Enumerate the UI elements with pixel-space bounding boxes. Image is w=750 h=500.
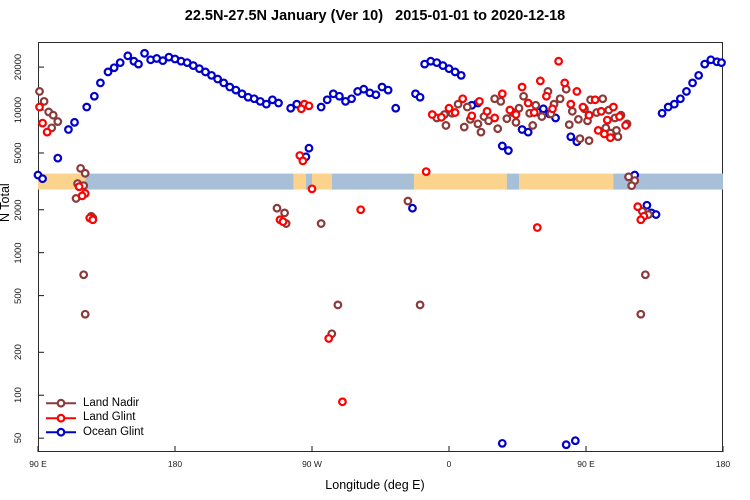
data-point [599,95,606,102]
data-point [125,53,132,60]
data-point [638,216,645,223]
axis-ticks [38,67,723,452]
data-point [141,50,148,57]
data-point [275,100,282,107]
data-point [586,137,593,144]
data-point [306,145,313,152]
data-point [525,129,532,136]
data-point [671,101,678,108]
data-point [44,129,51,136]
data-point [499,440,506,447]
data-point [39,120,46,127]
data-point [677,95,684,102]
y-tick-label: 10000 [12,95,26,125]
data-point [610,104,617,111]
data-point [534,224,541,231]
data-point [39,175,46,182]
series-ocean-glint [35,50,725,448]
data-point [54,155,61,162]
data-point [443,122,450,129]
y-tick-label: 20000 [12,52,26,82]
data-point [438,114,445,121]
data-point [555,58,562,65]
data-point [520,93,527,100]
data-point [298,106,305,113]
data-point [325,335,332,342]
data-point [54,118,61,125]
data-point [525,100,532,107]
data-point [452,109,459,116]
legend-label: Ocean Glint [83,425,144,440]
data-point [569,108,576,115]
data-point [280,218,287,225]
data-point [683,88,690,95]
y-tick-label: 200 [12,337,26,367]
data-point [135,61,142,68]
data-point [36,88,43,95]
data-point [91,93,98,100]
data-point [549,106,556,113]
data-point [531,109,538,116]
data-point [318,220,325,227]
surface-segment-land [294,174,306,190]
data-point [638,311,645,318]
data-point [409,205,416,212]
data-point [499,90,506,97]
data-point [309,186,316,193]
data-point [417,302,424,309]
legend-marker-icon [45,411,77,426]
data-point [653,211,660,218]
chart-title: 22.5N-27.5N January (Ver 10) 2015-01-01 … [0,8,750,24]
data-point [537,78,544,85]
data-point [577,135,584,142]
legend-marker-icon [45,396,77,411]
data-point [598,108,605,115]
surface-segment-land [519,174,613,190]
data-point [580,104,587,111]
data-point [50,112,57,119]
data-point [513,119,520,126]
data-point [634,203,641,210]
data-point [475,121,482,128]
data-point [111,64,118,71]
x-axis-label: Longitude (deg E) [0,478,750,492]
data-point [429,111,436,118]
y-tick-label: 100 [12,380,26,410]
data-point [417,94,424,101]
data-point [339,398,346,405]
x-tick-label: 0 [429,459,469,469]
data-point [566,121,573,128]
data-point [97,80,104,87]
data-point [336,93,343,100]
surface-segment-ocean [507,174,519,190]
data-point [539,113,546,120]
data-point [83,104,90,111]
data-point [561,80,568,87]
data-point [469,113,476,120]
data-point [497,98,504,105]
data-point [90,216,97,223]
data-point [543,93,550,100]
data-point [478,129,485,136]
data-point [575,116,582,123]
series-land-nadir [36,86,651,337]
data-point [519,84,526,91]
data-point [405,198,412,205]
y-tick-label: 50 [12,423,26,453]
data-point [642,271,649,278]
data-point [423,168,430,175]
data-point [615,133,622,140]
data-point [79,193,86,200]
data-point [464,104,471,111]
data-point [607,134,614,141]
x-tick-label: 90 E [566,459,606,469]
data-point [36,104,43,111]
y-axis-label: N Total [0,183,12,222]
data-point [65,126,72,133]
x-tick-label: 180 [155,459,195,469]
data-point [82,170,89,177]
data-point [357,206,364,213]
y-tick-label: 5000 [12,138,26,168]
data-point [574,88,581,95]
x-tick-label: 90 E [18,459,58,469]
data-point [499,143,506,150]
data-point [616,113,623,120]
data-point [484,108,491,115]
data-point [491,115,498,122]
data-point [532,102,539,109]
y-tick-label: 1000 [12,238,26,268]
data-point [300,158,307,165]
legend-marker-icon [45,425,77,440]
data-point [476,98,483,105]
data-point [459,95,466,102]
data-point [689,80,696,87]
y-tick-label: 2000 [12,195,26,225]
data-point [274,205,281,212]
data-point [659,110,666,117]
legend-label: Land Nadir [83,396,139,411]
surface-mask-band [38,174,723,190]
surface-segment-ocean [332,174,414,190]
data-point [494,125,501,132]
data-point [318,104,325,111]
figure-root: 22.5N-27.5N January (Ver 10) 2015-01-01 … [0,0,750,500]
data-point [324,96,331,103]
x-tick-label: 90 W [292,459,332,469]
data-point [117,59,124,66]
data-point [572,437,579,444]
data-point [718,59,725,66]
data-point [461,124,468,131]
data-point [628,182,635,189]
data-point [71,119,78,126]
x-tick-label: 180 [703,459,743,469]
data-point [80,271,87,278]
series-points [35,50,725,448]
data-point [281,210,288,217]
data-point [385,87,392,94]
data-point [586,112,593,119]
y-tick-label: 500 [12,281,26,311]
data-point [348,95,355,102]
data-point [373,91,380,98]
data-point [82,311,89,318]
surface-segment-land [414,174,507,190]
data-point [695,72,702,79]
data-point [592,96,599,103]
surface-segment-ocean [85,174,294,190]
legend-label: Land Glint [83,410,135,425]
data-point [622,122,629,129]
data-point [392,105,399,112]
data-point [604,117,611,124]
data-point [563,441,570,448]
series-land-glint [36,58,647,405]
data-point [567,101,574,108]
data-point [458,72,465,79]
data-point [513,111,520,118]
data-point [505,147,512,154]
data-point [540,106,547,113]
plot-area [38,42,723,452]
data-point [529,122,536,129]
data-point [504,115,511,122]
data-point [306,103,313,110]
data-layer [38,42,723,452]
data-point [76,183,83,190]
data-point [335,302,342,309]
data-point [557,95,564,102]
data-point [567,133,574,140]
